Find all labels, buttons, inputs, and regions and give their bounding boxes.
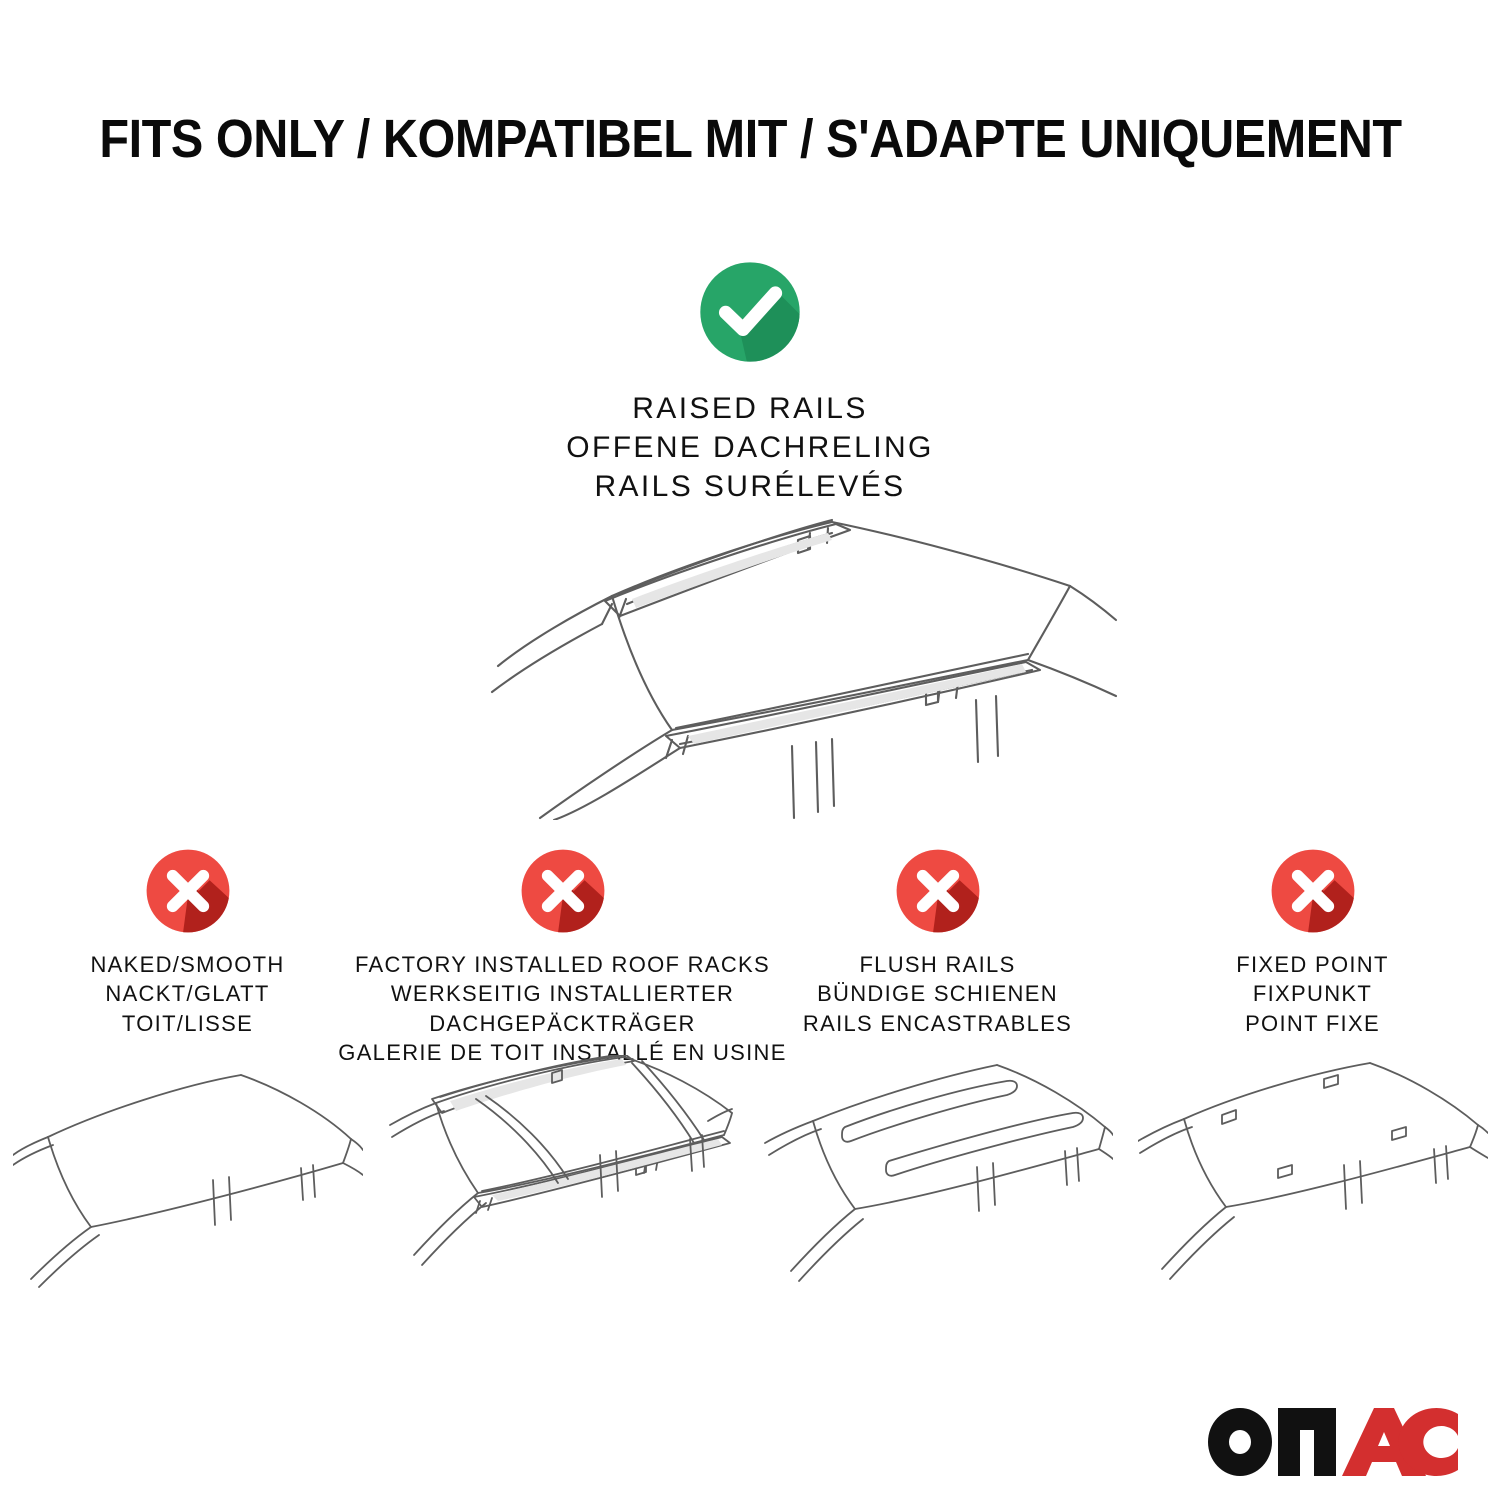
incompatible-row: NAKED/SMOOTH NACKT/GLATT TOIT/LISSE FACT…	[0, 846, 1500, 1067]
incompatible-label: FLUSH RAILS BÜNDIGE SCHIENEN RAILS ENCAS…	[803, 950, 1072, 1038]
incompatible-label-line: NACKT/GLATT	[90, 979, 284, 1008]
logo-letter-m	[1278, 1408, 1336, 1476]
car-roof-flush-rails-illustration	[750, 1055, 1125, 1305]
incompatible-label-line: FLUSH RAILS	[803, 950, 1072, 979]
car-roof-raised-rails-illustration	[380, 500, 1120, 820]
x-circle-icon	[518, 846, 608, 936]
page-title: FITS ONLY / KOMPATIBEL MIT / S'ADAPTE UN…	[99, 108, 1401, 170]
incompatible-column-flush-rails: FLUSH RAILS BÜNDIGE SCHIENEN RAILS ENCAS…	[750, 846, 1125, 1038]
incompatible-column-naked-smooth: NAKED/SMOOTH NACKT/GLATT TOIT/LISSE	[0, 846, 375, 1038]
incompatible-label-line: POINT FIXE	[1236, 1009, 1388, 1038]
incompatible-label: FACTORY INSTALLED ROOF RACKS WERKSEITIG …	[338, 950, 786, 1067]
incompatible-label-line: WERKSEITIG INSTALLIERTER	[338, 979, 786, 1008]
incompatible-label-line: TOIT/LISSE	[90, 1009, 284, 1038]
x-circle-icon	[1268, 846, 1358, 936]
incompatible-label-line: FACTORY INSTALLED ROOF RACKS	[338, 950, 786, 979]
car-roof-naked-smooth-illustration	[0, 1055, 375, 1305]
compatible-label: RAISED RAILS OFFENE DACHRELING RAILS SUR…	[0, 389, 1500, 506]
check-circle-icon	[696, 258, 804, 366]
x-circle-icon	[143, 846, 233, 936]
omac-logo	[1208, 1404, 1458, 1478]
incompatible-label-line: DACHGEPÄCKTRÄGER	[338, 1009, 786, 1038]
incompatible-label-line: BÜNDIGE SCHIENEN	[803, 979, 1072, 1008]
incompatible-label-line: RAILS ENCASTRABLES	[803, 1009, 1072, 1038]
incompatible-label-line: FIXPUNKT	[1236, 979, 1388, 1008]
incompatible-column-fixed-point: FIXED POINT FIXPUNKT POINT FIXE	[1125, 846, 1500, 1038]
logo-letter-o	[1208, 1408, 1272, 1476]
incompatible-label: NAKED/SMOOTH NACKT/GLATT TOIT/LISSE	[90, 950, 284, 1038]
car-roof-fixed-point-illustration	[1125, 1055, 1500, 1305]
incompatible-label: FIXED POINT FIXPUNKT POINT FIXE	[1236, 950, 1388, 1038]
incompatible-illustration-row	[0, 1055, 1500, 1305]
incompatible-label-line: NAKED/SMOOTH	[90, 950, 284, 979]
compatible-label-line: OFFENE DACHRELING	[0, 428, 1500, 467]
compatible-section: RAISED RAILS OFFENE DACHRELING RAILS SUR…	[0, 258, 1500, 506]
compatible-label-line: RAISED RAILS	[0, 389, 1500, 428]
incompatible-label-line: FIXED POINT	[1236, 950, 1388, 979]
title-bar: FITS ONLY / KOMPATIBEL MIT / S'ADAPTE UN…	[0, 108, 1500, 170]
car-roof-factory-rack-illustration	[375, 1055, 750, 1305]
incompatible-column-factory-rack: FACTORY INSTALLED ROOF RACKS WERKSEITIG …	[375, 846, 750, 1067]
x-circle-icon	[893, 846, 983, 936]
